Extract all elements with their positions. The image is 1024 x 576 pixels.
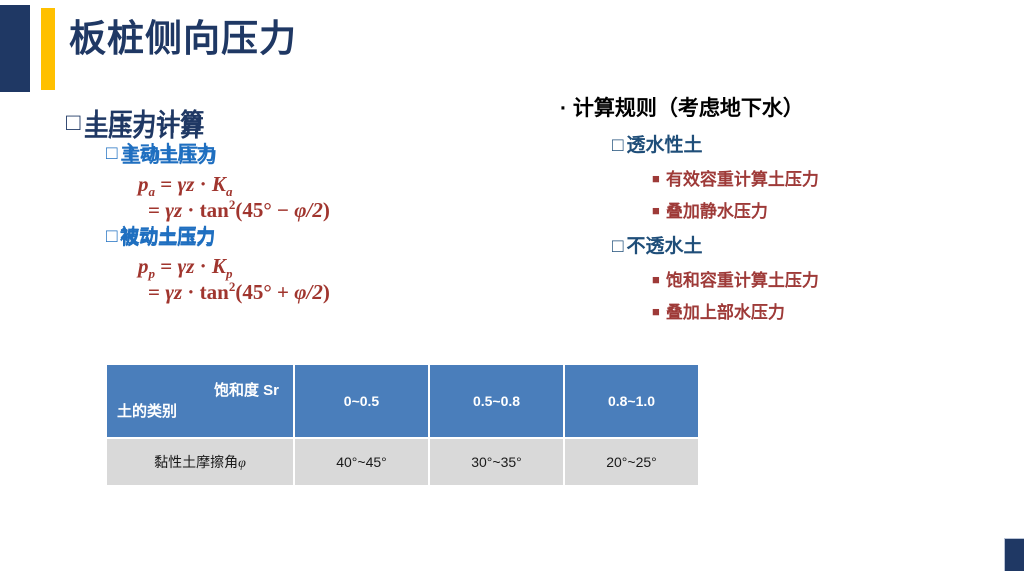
formula-dot-2: · <box>187 280 194 304</box>
table-header-row: 饱和度 Sr 土的类别 0~0.5 0.5~0.8 0.8~1.0 <box>107 365 698 437</box>
formula-phi-over-2: φ/2 <box>294 198 323 222</box>
page-title: 板桩侧向压力 <box>69 18 297 61</box>
group-impermeable-soil-label: 不透水土 <box>626 236 702 257</box>
formula-dot-2: · <box>187 198 194 222</box>
formula-gamma-z-2: γz <box>165 198 182 222</box>
formula-equals-2: = <box>148 280 160 304</box>
passive-pressure-formula-line2: = γz · tan2(45° + φ/2) <box>148 278 330 306</box>
hollow-square-bullet-icon: □ <box>612 236 623 257</box>
filled-square-bullet-icon: ■ <box>652 171 660 186</box>
left-section-heading-label: 土压力计算 <box>84 115 204 142</box>
formula-K-symbol: K <box>212 254 226 278</box>
formula-angle: 45° <box>242 198 271 222</box>
passive-pressure-heading-label: 被动土压力 <box>120 228 215 249</box>
footer-navy-block <box>1004 538 1024 571</box>
table-corner-bottom-label: 土的类别 <box>117 400 177 421</box>
table-cell-0-1: 30°~35° <box>430 439 563 485</box>
formula-tan: tan <box>200 280 229 304</box>
formula-operator: − <box>277 198 289 222</box>
formula-p-symbol: p <box>138 172 149 196</box>
table-row: 黏性土摩擦角φ 40°~45° 30°~35° 20°~25° <box>107 439 698 485</box>
table-corner-header: 饱和度 Sr 土的类别 <box>107 365 293 437</box>
item-add-upper-water-pressure-label: 叠加上部水压力 <box>666 303 785 322</box>
item-effective-unit-weight-label: 有效容重计算土压力 <box>666 170 819 189</box>
filled-square-bullet-icon: ■ <box>652 203 660 218</box>
formula-p-symbol: p <box>138 254 149 278</box>
table-row-label: 黏性土摩擦角φ <box>107 439 293 485</box>
formula-paren-close: ) <box>323 198 330 222</box>
formula-dot: · <box>200 172 207 196</box>
header-yellow-accent-bar <box>41 8 55 90</box>
hollow-square-bullet-icon: □ <box>106 143 117 164</box>
formula-gamma-z: γz <box>177 172 194 196</box>
formula-K-symbol: K <box>212 172 226 196</box>
filled-square-bullet-icon: ■ <box>652 272 660 287</box>
table-column-header-0: 0~0.5 <box>295 365 428 437</box>
table-cell-0-2: 20°~25° <box>565 439 698 485</box>
calculation-rules-heading: · 计算规则（考虑地下水） <box>560 96 1000 122</box>
group-permeable-soil-label: 透水性土 <box>626 135 702 156</box>
table-row-label-symbol: φ <box>238 456 246 471</box>
formula-operator: + <box>277 280 289 304</box>
formula-equals-2: = <box>148 198 160 222</box>
left-section-heading: 土压力计算 <box>84 116 204 142</box>
calculation-rules-heading-label: 计算规则（考虑地下水） <box>573 97 804 120</box>
dot-bullet-icon: · <box>560 97 567 120</box>
item-saturated-unit-weight: ■饱和容重计算土压力 <box>652 271 1000 291</box>
filled-square-bullet-icon: ■ <box>652 304 660 319</box>
table-cell-0-0: 40°~45° <box>295 439 428 485</box>
item-add-upper-water-pressure: ■叠加上部水压力 <box>652 303 1000 323</box>
table-column-header-2: 0.8~1.0 <box>565 365 698 437</box>
formula-equals: = <box>160 254 172 278</box>
active-pressure-heading-label: 主动土压力 <box>122 146 217 167</box>
item-saturated-unit-weight-label: 饱和容重计算土压力 <box>666 271 819 290</box>
table-column-header-1: 0.5~0.8 <box>430 365 563 437</box>
passive-pressure-heading: 被动土压力 <box>120 229 215 250</box>
hollow-square-bullet-icon: □ <box>612 135 623 156</box>
active-pressure-heading: 主动土压力 <box>122 147 217 168</box>
item-effective-unit-weight: ■有效容重计算土压力 <box>652 170 1000 190</box>
slide-canvas: 板桩侧向压力 □土压力计算 土压力计算 □主动土压力 主动土压力 pa = γz… <box>0 0 1024 576</box>
formula-dot: · <box>200 254 207 278</box>
formula-phi-over-2: φ/2 <box>294 280 323 304</box>
right-content-column: · 计算规则（考虑地下水） □透水性土 ■有效容重计算土压力 ■叠加静水压力 □… <box>560 96 1000 323</box>
table-corner-top-label: 饱和度 Sr <box>214 379 279 400</box>
table-row-label-text: 黏性土摩擦角 <box>154 454 238 470</box>
formula-gamma-z: γz <box>177 254 194 278</box>
hollow-square-bullet-icon: □ <box>106 226 117 247</box>
formula-equals: = <box>160 172 172 196</box>
saturation-friction-angle-table: 饱和度 Sr 土的类别 0~0.5 0.5~0.8 0.8~1.0 黏性土摩擦角… <box>105 363 700 487</box>
header-navy-block <box>0 5 30 92</box>
group-permeable-soil: □透水性土 <box>612 135 1000 158</box>
formula-tan: tan <box>200 198 229 222</box>
group-impermeable-soil: □不透水土 <box>612 236 1000 259</box>
formula-angle: 45° <box>242 280 271 304</box>
item-add-hydrostatic-pressure-label: 叠加静水压力 <box>666 202 768 221</box>
item-add-hydrostatic-pressure: ■叠加静水压力 <box>652 202 1000 222</box>
active-pressure-formula-line2: = γz · tan2(45° − φ/2) <box>148 196 330 224</box>
formula-gamma-z-2: γz <box>165 280 182 304</box>
hollow-square-bullet-icon: □ <box>66 109 81 136</box>
formula-paren-close: ) <box>323 280 330 304</box>
